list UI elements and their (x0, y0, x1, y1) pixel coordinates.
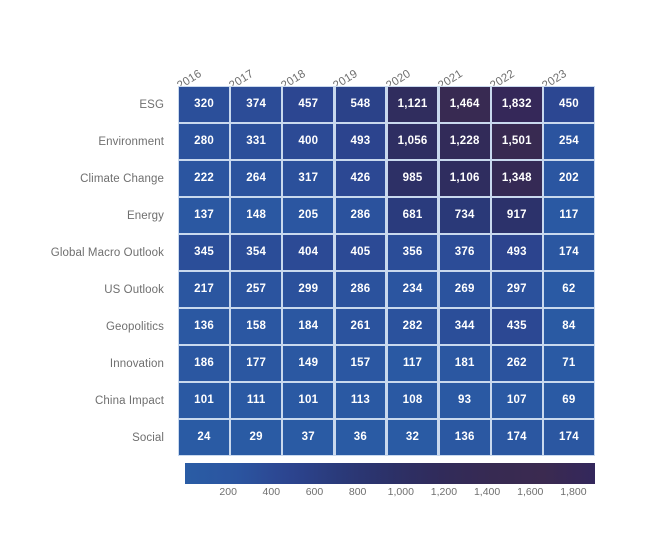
heatmap-row: 2429373632136174174 (178, 419, 595, 456)
heatmap-cell[interactable]: 181 (440, 346, 490, 381)
heatmap-cell[interactable]: 1,832 (492, 87, 542, 122)
heatmap-cell[interactable]: 257 (231, 272, 281, 307)
heatmap-cell[interactable]: 234 (388, 272, 438, 307)
heatmap-cell-value: 136 (455, 432, 475, 444)
heatmap-cell-value: 1,832 (502, 99, 532, 111)
heatmap-cell[interactable]: 136 (440, 420, 490, 455)
heatmap-cell[interactable]: 344 (440, 309, 490, 344)
heatmap-grid: 3203744575481,1211,4641,8324502803314004… (178, 86, 595, 456)
heatmap-cell[interactable]: 84 (544, 309, 594, 344)
heatmap-cell-value: 117 (559, 210, 578, 222)
heatmap-row: 13615818426128234443584 (178, 308, 595, 345)
heatmap-cell-value: 320 (194, 99, 214, 111)
heatmap-cell-value: 36 (354, 432, 367, 444)
heatmap-cell[interactable]: 184 (283, 309, 333, 344)
colorbar-tick-800: 800 (349, 486, 367, 498)
column-header-2021[interactable]: 2021 (439, 28, 491, 80)
heatmap-cell-value: 450 (559, 99, 579, 111)
heatmap-cell[interactable]: 405 (336, 235, 386, 270)
heatmap-cell-value: 107 (507, 395, 527, 407)
heatmap-cell[interactable]: 450 (544, 87, 594, 122)
heatmap-cell-value: 264 (246, 173, 266, 185)
heatmap-cell[interactable]: 917 (492, 198, 542, 233)
heatmap-cell-value: 101 (298, 395, 318, 407)
heatmap-cell-value: 400 (298, 136, 318, 148)
heatmap-cell[interactable]: 157 (336, 346, 386, 381)
heatmap-cell-value: 1,121 (398, 99, 428, 111)
heatmap-cell[interactable]: 177 (231, 346, 281, 381)
heatmap-cell-value: 331 (246, 136, 266, 148)
heatmap-cell-value: 158 (246, 321, 266, 333)
heatmap-cell-value: 257 (246, 284, 266, 296)
heatmap-cell-value: 262 (507, 358, 527, 370)
heatmap-cell[interactable]: 69 (544, 383, 594, 418)
heatmap-cell[interactable]: 217 (179, 272, 229, 307)
heatmap-cell-value: 101 (194, 395, 214, 407)
heatmap-row: 2803314004931,0561,2281,501254 (178, 123, 595, 160)
heatmap-cell[interactable]: 264 (231, 161, 281, 196)
heatmap-cell[interactable]: 117 (388, 346, 438, 381)
heatmap-row: 345354404405356376493174 (178, 234, 595, 271)
heatmap-cell[interactable]: 108 (388, 383, 438, 418)
heatmap-cell[interactable]: 36 (336, 420, 386, 455)
heatmap-cell-value: 69 (562, 395, 575, 407)
heatmap-cell[interactable]: 158 (231, 309, 281, 344)
row-label-geopolitics[interactable]: Geopolitics (0, 308, 164, 345)
heatmap-cell[interactable]: 174 (492, 420, 542, 455)
heatmap-cell[interactable]: 426 (336, 161, 386, 196)
heatmap-cell[interactable]: 400 (283, 124, 333, 159)
heatmap-cell-value: 985 (403, 173, 423, 185)
row-label-axis: ESGEnvironmentClimate ChangeEnergyGlobal… (0, 86, 172, 456)
heatmap-cell-value: 280 (194, 136, 214, 148)
heatmap-row: 2222643174269851,1061,348202 (178, 160, 595, 197)
heatmap-cell-value: 136 (194, 321, 214, 333)
heatmap-cell-value: 405 (351, 247, 371, 259)
heatmap-cell[interactable]: 320 (179, 87, 229, 122)
heatmap-cell-value: 174 (507, 432, 527, 444)
heatmap-cell-value: 234 (403, 284, 423, 296)
colorbar-tick-1800: 1,800 (560, 486, 586, 498)
heatmap-cell-value: 181 (455, 358, 475, 370)
heatmap-cell-value: 37 (302, 432, 315, 444)
heatmap-cell[interactable]: 261 (336, 309, 386, 344)
colorbar-gradient (185, 463, 595, 484)
heatmap-chart: 20162017201820192020202120222023 ESGEnvi… (0, 0, 650, 534)
column-header-2016[interactable]: 2016 (178, 28, 230, 80)
colorbar-tick-labels: 2004006008001,0001,2001,4001,6001,800 (185, 486, 595, 504)
heatmap-cell[interactable]: 202 (544, 161, 594, 196)
heatmap-cell-value: 113 (351, 395, 370, 407)
heatmap-cell-value: 317 (298, 173, 318, 185)
heatmap-cell-value: 24 (197, 432, 210, 444)
row-label-china-impact[interactable]: China Impact (0, 382, 164, 419)
heatmap-cell-value: 1,228 (450, 136, 480, 148)
heatmap-cell[interactable]: 457 (283, 87, 333, 122)
row-label-esg[interactable]: ESG (0, 86, 164, 123)
heatmap-cell[interactable]: 297 (492, 272, 542, 307)
heatmap-cell-value: 426 (351, 173, 371, 185)
heatmap-cell-value: 457 (298, 99, 318, 111)
colorbar-tick-200: 200 (219, 486, 237, 498)
row-label-text: ESG (139, 99, 164, 111)
row-label-social[interactable]: Social (0, 419, 164, 456)
heatmap-cell-value: 548 (351, 99, 371, 111)
heatmap-cell-value: 174 (559, 432, 579, 444)
heatmap-cell[interactable]: 113 (336, 383, 386, 418)
heatmap-cell-value: 734 (455, 210, 475, 222)
heatmap-cell-value: 71 (562, 358, 575, 370)
heatmap-cell[interactable]: 435 (492, 309, 542, 344)
heatmap-cell[interactable]: 93 (440, 383, 490, 418)
row-label-text: Environment (98, 136, 164, 148)
heatmap-cell[interactable]: 136 (179, 309, 229, 344)
row-label-innovation[interactable]: Innovation (0, 345, 164, 382)
heatmap-cell-value: 286 (351, 210, 371, 222)
heatmap-cell-value: 493 (351, 136, 371, 148)
heatmap-cell-value: 344 (455, 321, 475, 333)
heatmap-cell[interactable]: 734 (440, 198, 490, 233)
column-header-2020[interactable]: 2020 (387, 28, 439, 80)
colorbar-legend: 2004006008001,0001,2001,4001,6001,800 (185, 463, 595, 509)
heatmap-cell-value: 29 (250, 432, 263, 444)
column-header-2019[interactable]: 2019 (334, 28, 386, 80)
heatmap-cell[interactable]: 101 (283, 383, 333, 418)
heatmap-cell-value: 217 (194, 284, 214, 296)
heatmap-cell-value: 1,106 (450, 173, 480, 185)
heatmap-cell-value: 174 (559, 247, 579, 259)
heatmap-cell[interactable]: 493 (492, 235, 542, 270)
heatmap-cell[interactable]: 222 (179, 161, 229, 196)
heatmap-cell-value: 374 (246, 99, 266, 111)
heatmap-row: 1011111011131089310769 (178, 382, 595, 419)
heatmap-cell[interactable]: 1,056 (388, 124, 438, 159)
heatmap-cell-value: 108 (403, 395, 423, 407)
heatmap-cell[interactable]: 1,464 (440, 87, 490, 122)
column-header-2023[interactable]: 2023 (543, 28, 595, 80)
column-header-axis: 20162017201820192020202120222023 (178, 28, 595, 80)
heatmap-cell[interactable]: 254 (544, 124, 594, 159)
row-label-text: Innovation (110, 358, 164, 370)
heatmap-cell[interactable]: 331 (231, 124, 281, 159)
heatmap-cell-value: 148 (246, 210, 266, 222)
row-label-text: China Impact (95, 395, 164, 407)
heatmap-cell-value: 681 (403, 210, 423, 222)
heatmap-cell-value: 32 (406, 432, 419, 444)
colorbar-tick-600: 600 (306, 486, 324, 498)
heatmap-cell[interactable]: 299 (283, 272, 333, 307)
heatmap-cell[interactable]: 37 (283, 420, 333, 455)
heatmap-cell[interactable]: 148 (231, 198, 281, 233)
heatmap-cell-value: 1,056 (398, 136, 428, 148)
heatmap-cell-value: 299 (298, 284, 318, 296)
heatmap-cell-value: 376 (455, 247, 475, 259)
heatmap-cell[interactable]: 282 (388, 309, 438, 344)
heatmap-cell-value: 1,348 (502, 173, 532, 185)
heatmap-cell[interactable]: 354 (231, 235, 281, 270)
column-header-2022[interactable]: 2022 (491, 28, 543, 80)
heatmap-cell[interactable]: 71 (544, 346, 594, 381)
heatmap-cell[interactable]: 1,106 (440, 161, 490, 196)
heatmap-cell[interactable]: 345 (179, 235, 229, 270)
row-label-text: Climate Change (80, 173, 164, 185)
heatmap-cell[interactable]: 269 (440, 272, 490, 307)
heatmap-cell[interactable]: 205 (283, 198, 333, 233)
heatmap-cell-value: 493 (507, 247, 527, 259)
heatmap-row: 21725729928623426929762 (178, 271, 595, 308)
heatmap-cell[interactable]: 174 (544, 235, 594, 270)
heatmap-cell[interactable]: 286 (336, 198, 386, 233)
row-label-text: US Outlook (104, 284, 164, 296)
heatmap-cell[interactable]: 374 (231, 87, 281, 122)
heatmap-cell[interactable]: 404 (283, 235, 333, 270)
heatmap-cell[interactable]: 117 (544, 198, 594, 233)
heatmap-cell-value: 354 (246, 247, 266, 259)
heatmap-cell-value: 202 (559, 173, 579, 185)
heatmap-cell[interactable]: 186 (179, 346, 229, 381)
heatmap-cell[interactable]: 286 (336, 272, 386, 307)
row-label-text: Global Macro Outlook (51, 247, 164, 259)
heatmap-cell-value: 84 (562, 321, 575, 333)
row-label-text: Geopolitics (106, 321, 164, 333)
heatmap-cell-value: 186 (194, 358, 214, 370)
heatmap-cell-value: 149 (298, 358, 318, 370)
heatmap-cell[interactable]: 548 (336, 87, 386, 122)
colorbar-tick-1200: 1,200 (431, 486, 457, 498)
heatmap-cell[interactable]: 32 (388, 420, 438, 455)
heatmap-cell[interactable]: 317 (283, 161, 333, 196)
heatmap-cell-value: 205 (298, 210, 318, 222)
heatmap-cell[interactable]: 62 (544, 272, 594, 307)
heatmap-cell-value: 261 (351, 321, 371, 333)
heatmap-cell-value: 93 (458, 395, 471, 407)
heatmap-cell-value: 184 (298, 321, 318, 333)
heatmap-row: 18617714915711718126271 (178, 345, 595, 382)
heatmap-cell-value: 269 (455, 284, 475, 296)
colorbar-tick-1400: 1,400 (474, 486, 500, 498)
heatmap-cell[interactable]: 149 (283, 346, 333, 381)
heatmap-cell-value: 117 (403, 358, 422, 370)
colorbar-tick-400: 400 (263, 486, 281, 498)
heatmap-cell[interactable]: 1,121 (388, 87, 438, 122)
heatmap-cell-value: 356 (403, 247, 423, 259)
heatmap-cell-value: 435 (507, 321, 527, 333)
colorbar-tick-1600: 1,600 (517, 486, 543, 498)
heatmap-cell-value: 286 (351, 284, 371, 296)
heatmap-cell-value: 297 (507, 284, 527, 296)
column-header-2018[interactable]: 2018 (282, 28, 334, 80)
heatmap-row: 137148205286681734917117 (178, 197, 595, 234)
heatmap-cell[interactable]: 137 (179, 198, 229, 233)
row-label-environment[interactable]: Environment (0, 123, 164, 160)
colorbar-tick-1000: 1,000 (388, 486, 414, 498)
heatmap-cell-value: 404 (298, 247, 318, 259)
row-label-text: Social (132, 432, 164, 444)
heatmap-cell[interactable]: 681 (388, 198, 438, 233)
heatmap-cell-value: 282 (403, 321, 423, 333)
heatmap-cell[interactable]: 174 (544, 420, 594, 455)
heatmap-cell[interactable]: 107 (492, 383, 542, 418)
heatmap-cell-value: 1,464 (450, 99, 480, 111)
row-label-text: Energy (127, 210, 164, 222)
row-label-us-outlook[interactable]: US Outlook (0, 271, 164, 308)
heatmap-cell[interactable]: 493 (336, 124, 386, 159)
heatmap-cell[interactable]: 29 (231, 420, 281, 455)
heatmap-cell-value: 345 (194, 247, 214, 259)
heatmap-cell[interactable]: 356 (388, 235, 438, 270)
heatmap-cell[interactable]: 376 (440, 235, 490, 270)
heatmap-cell-value: 222 (194, 173, 214, 185)
heatmap-cell[interactable]: 1,348 (492, 161, 542, 196)
heatmap-cell-value: 1,501 (502, 136, 532, 148)
heatmap-cell[interactable]: 280 (179, 124, 229, 159)
heatmap-cell[interactable]: 262 (492, 346, 542, 381)
heatmap-cell-value: 177 (246, 358, 266, 370)
heatmap-cell[interactable]: 101 (179, 383, 229, 418)
row-label-energy[interactable]: Energy (0, 197, 164, 234)
heatmap-cell[interactable]: 24 (179, 420, 229, 455)
column-header-2017[interactable]: 2017 (230, 28, 282, 80)
heatmap-cell-value: 157 (351, 358, 371, 370)
heatmap-cell[interactable]: 1,501 (492, 124, 542, 159)
heatmap-cell[interactable]: 111 (231, 383, 281, 418)
heatmap-cell-value: 111 (247, 395, 266, 407)
row-label-climate-change[interactable]: Climate Change (0, 160, 164, 197)
heatmap-cell-value: 62 (562, 284, 575, 296)
heatmap-cell-value: 137 (194, 210, 214, 222)
row-label-global-macro-outlook[interactable]: Global Macro Outlook (0, 234, 164, 271)
heatmap-cell-value: 917 (507, 210, 527, 222)
heatmap-cell[interactable]: 1,228 (440, 124, 490, 159)
heatmap-row: 3203744575481,1211,4641,832450 (178, 86, 595, 123)
heatmap-cell-value: 254 (559, 136, 579, 148)
heatmap-cell[interactable]: 985 (388, 161, 438, 196)
